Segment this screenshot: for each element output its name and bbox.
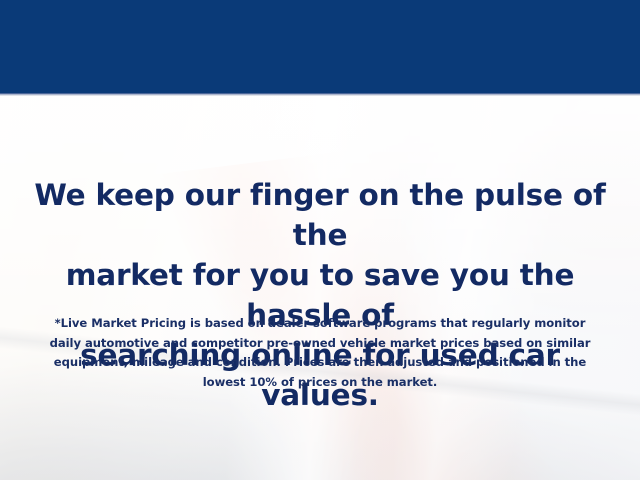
live-market-pricing-banner: Live Market Pricing* We keep our finger … [0,0,640,480]
content-area: We keep our finger on the pulse of the m… [0,93,640,480]
fineprint-line-4: lowest 10% of prices on the market. [28,373,612,393]
fineprint-line-3: equipment, mileage and condition. Prices… [28,353,612,373]
fineprint-line-1: *Live Market Pricing is based on dealer … [28,314,612,334]
headline-line-1: We keep our finger on the pulse of the [20,175,620,255]
header-bar [0,0,640,93]
fineprint-line-2: daily automotive and competitor pre-owne… [28,334,612,354]
fineprint-disclaimer: *Live Market Pricing is based on dealer … [28,314,612,392]
